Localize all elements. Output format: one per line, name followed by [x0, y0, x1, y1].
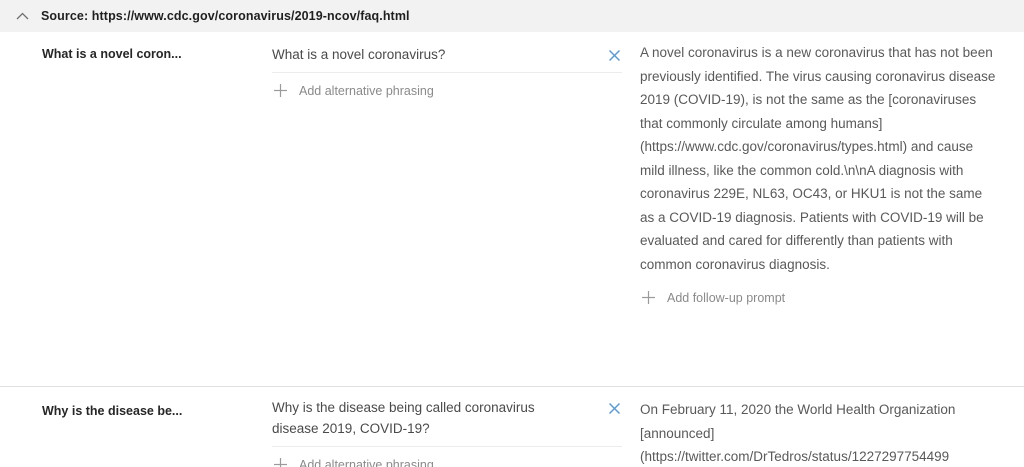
table-row[interactable]: Why is the disease be... Why is the dise… [0, 387, 1024, 467]
chevron-up-icon[interactable] [12, 6, 32, 26]
add-alternative-phrasing-label: Add alternative phrasing [299, 83, 434, 99]
question-text[interactable]: Why is the disease being called coronavi… [272, 397, 562, 439]
row-question-label-cell: What is a novel coron... [0, 32, 228, 62]
add-alternative-phrasing-button[interactable]: Add alternative phrasing [272, 456, 622, 467]
close-icon[interactable] [606, 400, 622, 416]
table-row[interactable]: What is a novel coron... What is a novel… [0, 32, 1024, 387]
row-question-short-label: What is a novel coron... [42, 46, 228, 62]
answer-text[interactable]: On February 11, 2020 the World Health Or… [640, 398, 1000, 467]
question-field[interactable]: Why is the disease being called coronavi… [272, 395, 622, 447]
row-questions-cell: Why is the disease being called coronavi… [228, 387, 630, 467]
add-followup-prompt-button[interactable]: Add follow-up prompt [640, 289, 1020, 306]
close-icon[interactable] [606, 47, 622, 63]
plus-icon [640, 289, 657, 306]
row-questions-cell: What is a novel coronavirus? [228, 32, 630, 99]
add-alternative-phrasing-button[interactable]: Add alternative phrasing [272, 82, 622, 99]
row-answer-cell: On February 11, 2020 the World Health Or… [630, 387, 1024, 467]
plus-icon [272, 82, 289, 99]
qna-row-list: What is a novel coron... What is a novel… [0, 32, 1024, 467]
row-question-short-label: Why is the disease be... [42, 403, 228, 419]
add-followup-prompt-label: Add follow-up prompt [667, 290, 785, 306]
source-header-bar: Source: https://www.cdc.gov/coronavirus/… [0, 0, 1024, 32]
row-question-label-cell: Why is the disease be... [0, 387, 228, 419]
source-label: Source: https://www.cdc.gov/coronavirus/… [41, 9, 410, 23]
answer-text[interactable]: A novel coronavirus is a new coronavirus… [640, 41, 1000, 276]
plus-icon [272, 456, 289, 467]
question-field[interactable]: What is a novel coronavirus? [272, 42, 622, 73]
question-text[interactable]: What is a novel coronavirus? [272, 44, 455, 65]
add-alternative-phrasing-label: Add alternative phrasing [299, 457, 434, 467]
row-answer-cell: A novel coronavirus is a new coronavirus… [630, 32, 1024, 306]
qna-editor-page: Source: https://www.cdc.gov/coronavirus/… [0, 0, 1024, 467]
